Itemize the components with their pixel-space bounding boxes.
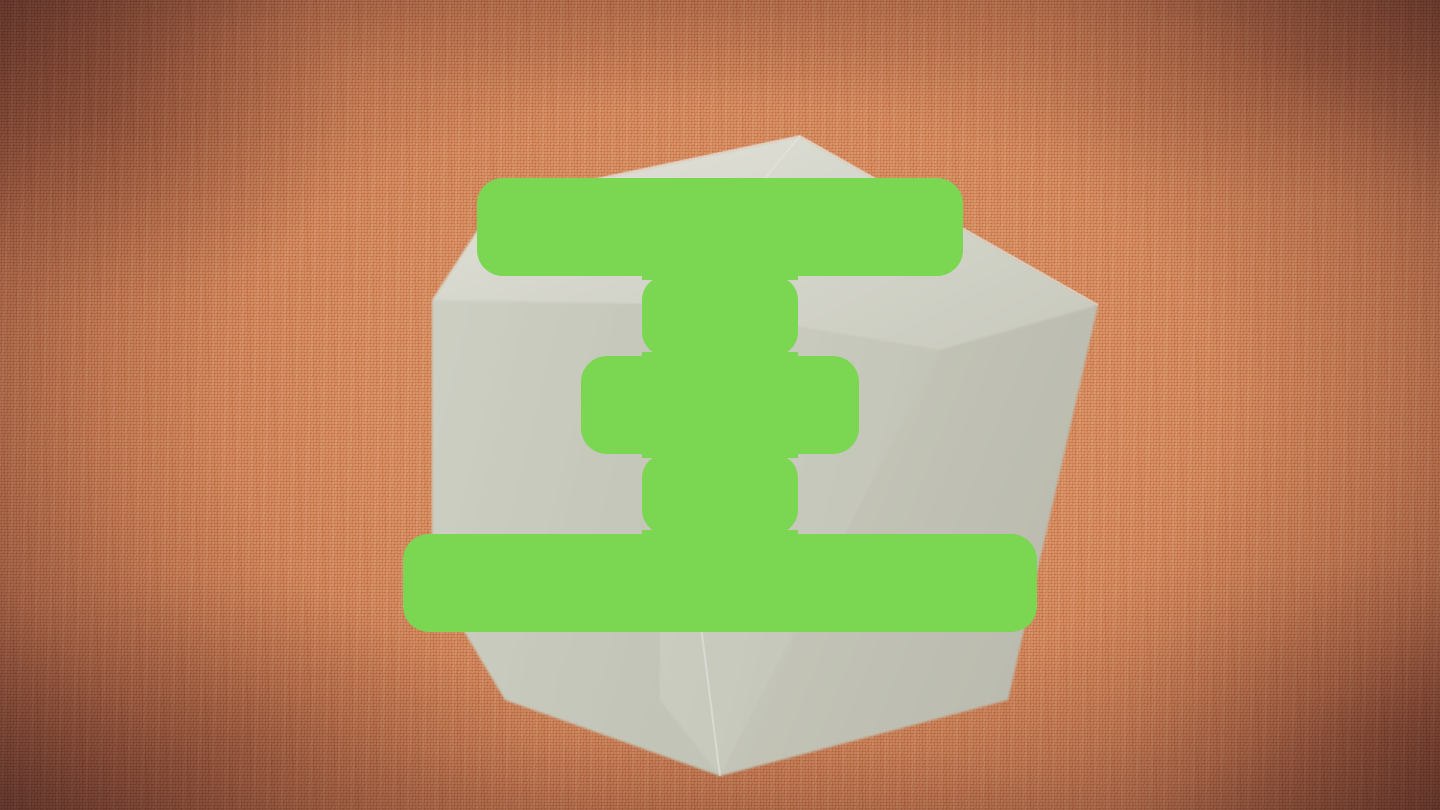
slide-canvas: PARALLEL VS GRID VS DISTRIBUTED bbox=[0, 0, 1440, 810]
isometric-cube-graphic bbox=[0, 0, 1440, 810]
cube-faces bbox=[432, 136, 1098, 776]
